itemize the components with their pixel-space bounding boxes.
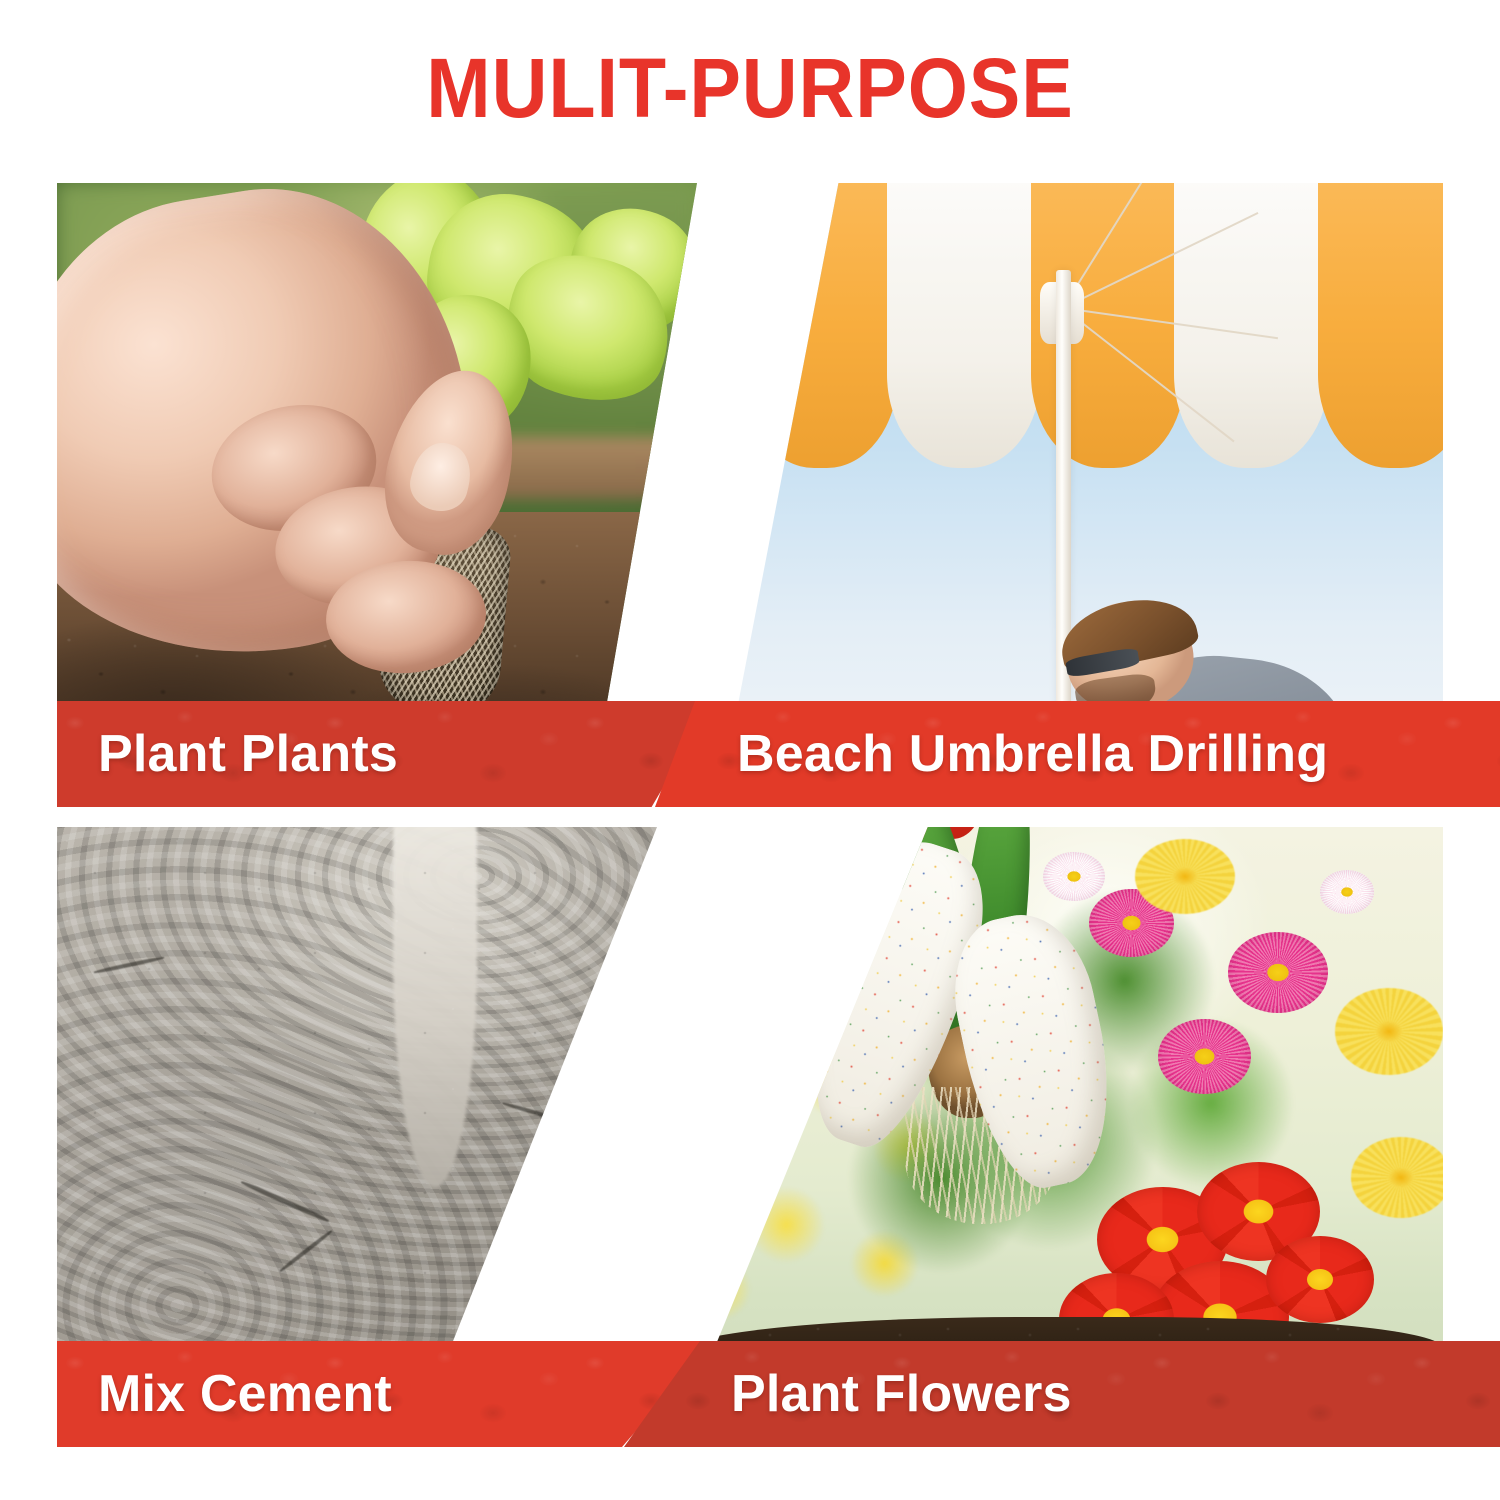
yellow-flower [1135,839,1235,913]
panel-label-beach-umbrella: Beach Umbrella Drilling [737,726,1328,782]
panel-grid [57,183,1443,1447]
panel-label-plant-plants: Plant Plants [98,726,398,782]
yellow-flower [1351,1137,1443,1218]
infographic-page: MULIT-PURPOSE [0,0,1500,1500]
red-primrose-flower [1266,1236,1374,1323]
label-bar-beach-umbrella[interactable]: Beach Umbrella Drilling [655,701,1500,807]
panel-label-mix-cement: Mix Cement [98,1366,392,1422]
page-title: MULIT-PURPOSE [60,44,1440,132]
label-bar-plant-plants[interactable]: Plant Plants [57,701,714,807]
white-daisy-flower [1043,852,1105,902]
label-bar-plant-flowers[interactable]: Plant Flowers [624,1341,1500,1447]
yellow-flower [1335,988,1443,1075]
white-daisy-flower [1320,870,1374,913]
glove-cuff [769,827,901,951]
umbrella-gore [719,183,772,468]
pink-daisy-flower [1158,1019,1250,1093]
umbrella-gore [887,183,1041,468]
label-bar-mix-cement[interactable]: Mix Cement [57,1341,714,1447]
panel-label-plant-flowers: Plant Flowers [731,1366,1072,1422]
umbrella-gore [1318,183,1443,468]
umbrella-gore [743,183,897,468]
pink-daisy-flower [1228,932,1328,1013]
